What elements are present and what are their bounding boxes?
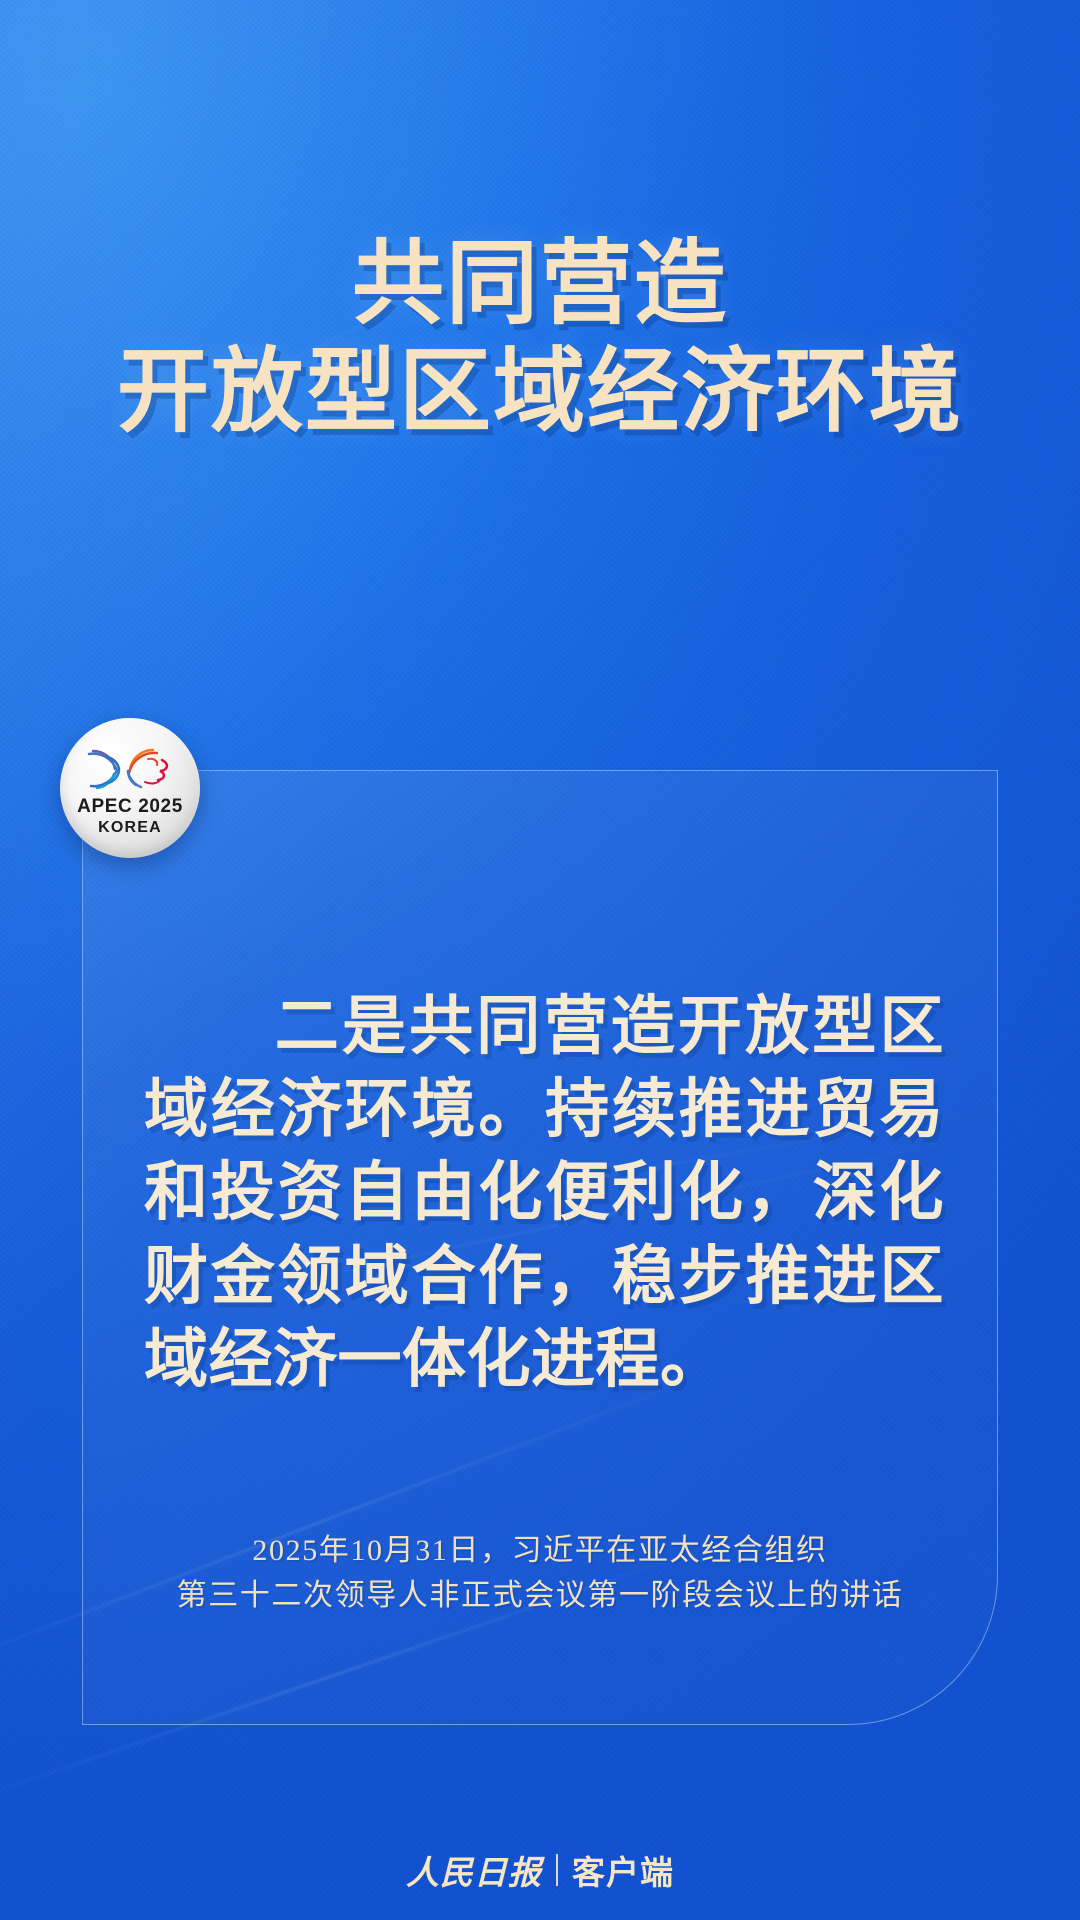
footer-divider-icon — [556, 1854, 558, 1886]
attribution-line-2: 第三十二次领导人非正式会议第一阶段会议上的讲话 — [82, 1573, 998, 1618]
footer-branding: 人民日报 客户端 — [0, 1846, 1080, 1894]
logo-text-sub: KOREA — [98, 820, 162, 836]
apec-face-mark-icon — [78, 743, 182, 795]
peoples-daily-wordmark: 人民日报 — [406, 1846, 542, 1894]
quote-body: 二是共同营造开放型区域经济环境。持续推进贸易和投资自由化便利化，深化财金领域合作… — [144, 985, 944, 1401]
footer-app-label: 客户端 — [572, 1846, 674, 1894]
title-line-2: 开放型区域经济环境 — [0, 344, 1080, 442]
attribution: 2025年10月31日，习近平在亚太经合组织 第三十二次领导人非正式会议第一阶段… — [82, 1528, 998, 1618]
logo-text-main: APEC 2025 — [77, 797, 183, 816]
title-line-1: 共同营造 — [0, 236, 1080, 334]
page-title: 共同营造 开放型区域经济环境 — [0, 236, 1080, 441]
attribution-line-1: 2025年10月31日，习近平在亚太经合组织 — [82, 1528, 998, 1573]
apec-2025-korea-logo: APEC 2025 KOREA — [60, 718, 200, 858]
poster-root: 共同营造 开放型区域经济环境 — [0, 0, 1080, 1920]
quote-body-text: 二是共同营造开放型区域经济环境。持续推进贸易和投资自由化便利化，深化财金领域合作… — [144, 990, 944, 1395]
